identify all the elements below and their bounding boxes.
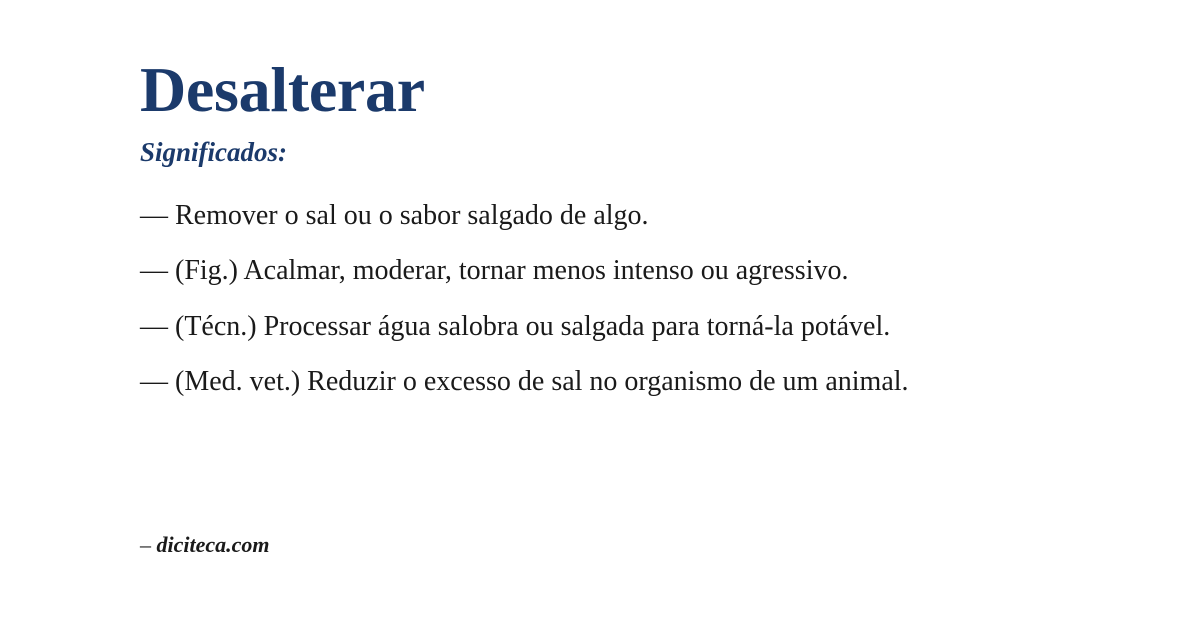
page-title: Desalterar [140, 58, 1060, 122]
em-dash-bullet: — [140, 366, 168, 397]
definition-item: — (Med. vet.) Reduzir o excesso de sal n… [140, 364, 1050, 399]
definition-item: — (Fig.) Acalmar, moderar, tornar menos … [140, 253, 1050, 288]
definitions-list: — Remover o sal ou o sabor salgado de al… [140, 198, 1060, 399]
em-dash-bullet: — [140, 255, 168, 286]
meanings-label: Significados: [140, 139, 1060, 166]
source-name: diciteca.com [157, 532, 270, 557]
em-dash-bullet: — [140, 200, 168, 231]
en-dash-bullet: – [140, 532, 151, 557]
dictionary-entry-card: Desalterar Significados: — Remover o sal… [0, 0, 1200, 628]
definition-item: — Remover o sal ou o sabor salgado de al… [140, 198, 1050, 233]
definition-text: (Med. vet.) Reduzir o excesso de sal no … [175, 366, 909, 397]
definition-item: — (Técn.) Processar água salobra ou salg… [140, 309, 1050, 344]
source-attribution: – diciteca.com [140, 533, 270, 557]
definition-text: (Fig.) Acalmar, moderar, tornar menos in… [175, 255, 848, 286]
em-dash-bullet: — [140, 311, 168, 342]
definition-text: Remover o sal ou o sabor salgado de algo… [175, 200, 649, 231]
definition-text: (Técn.) Processar água salobra ou salgad… [175, 311, 890, 342]
